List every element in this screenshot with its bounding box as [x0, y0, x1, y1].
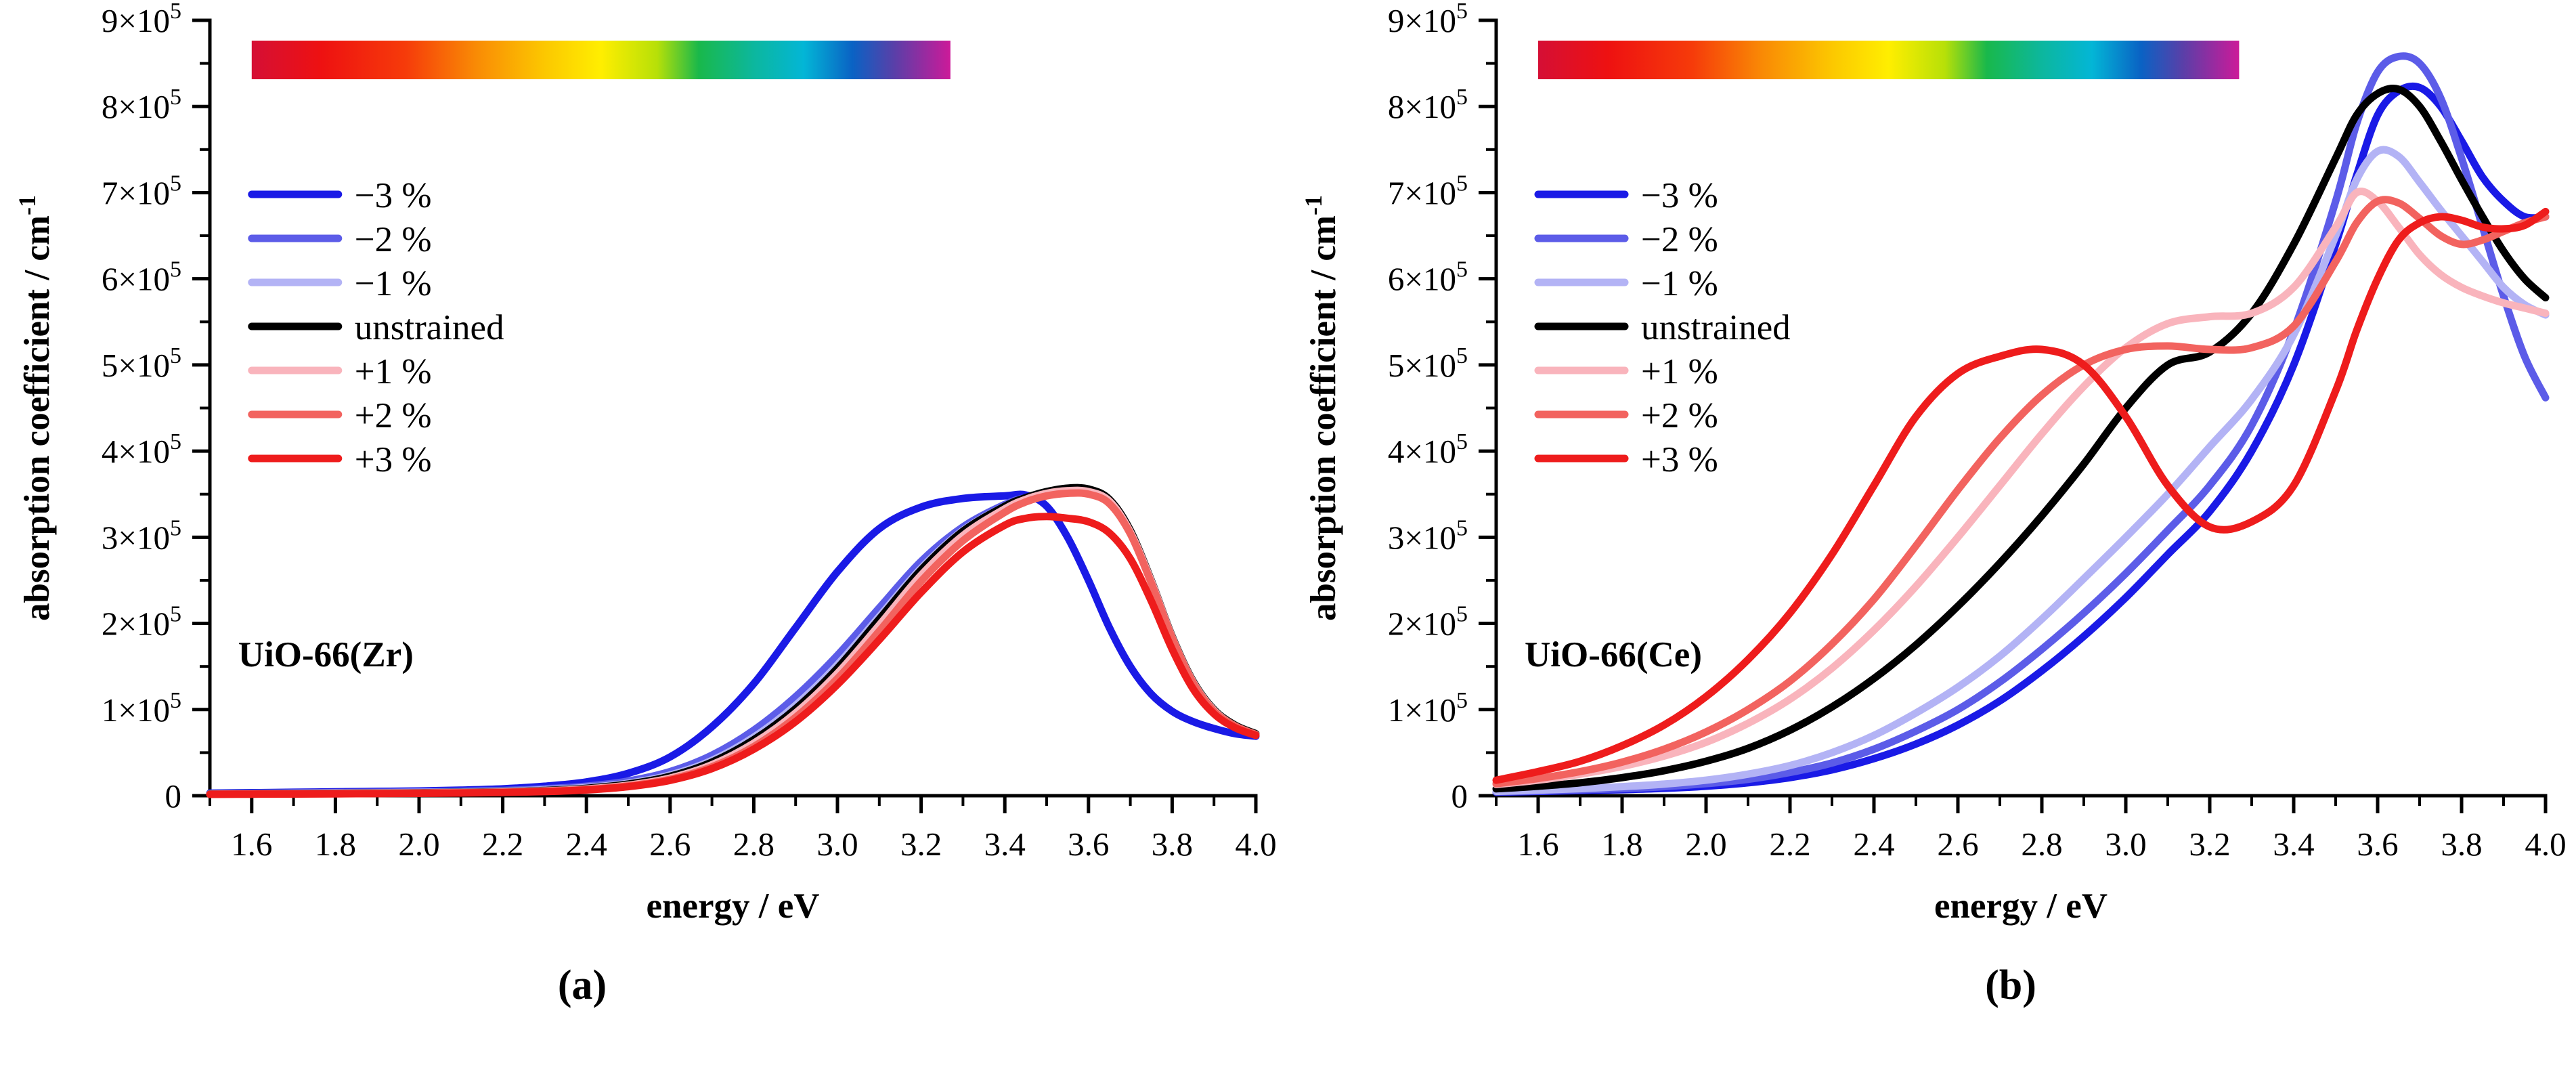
x-tick-label: 1.6 [1517, 826, 1558, 863]
legend-label-p3: +3 % [355, 440, 432, 479]
x-tick-label: 1.8 [315, 826, 356, 863]
panel-annotation: UiO-66(Zr) [238, 635, 414, 674]
x-tick-label: 2.0 [1685, 826, 1726, 863]
y-tick-exponent: 5 [1456, 688, 1468, 713]
caption-row: (a) (b) [0, 962, 2576, 1072]
y-tick-exponent: 5 [170, 515, 181, 540]
y-tick-label: 9×105 [1388, 0, 1468, 39]
y-tick-label: 5×105 [1388, 343, 1468, 384]
x-tick-label: 4.0 [1235, 826, 1276, 863]
chart-a-svg: 1.61.82.02.22.42.62.83.03.23.43.63.84.00… [0, 0, 1286, 975]
legend-entry-m2[interactable]: −2 % [252, 220, 432, 259]
x-tick-label: 3.4 [984, 826, 1026, 863]
chart-b-svg: 1.61.82.02.22.42.62.83.03.23.43.63.84.00… [1286, 0, 2576, 975]
y-tick-exponent: 5 [1456, 343, 1468, 368]
y-tick-exponent: 5 [170, 257, 181, 282]
y-tick-label: 8×105 [102, 85, 181, 125]
y-tick-label: 8×105 [1388, 85, 1468, 125]
legend-label-unstrained: unstrained [1641, 308, 1791, 347]
y-tick-label: 3×105 [1388, 515, 1468, 556]
y-tick-exponent: 5 [170, 85, 181, 110]
panel-b-uio66ce: 1.61.82.02.22.42.62.83.03.23.43.63.84.00… [1286, 0, 2576, 975]
panel-annotation: UiO-66(Ce) [1525, 635, 1702, 674]
legend-label-p3: +3 % [1641, 440, 1718, 479]
spectrum-bar [1538, 41, 2239, 79]
y-axis-title: absorption coefficient / cm-1 [1300, 195, 1343, 621]
x-axis-title: energy / eV [646, 886, 819, 926]
legend-label-p1: +1 % [1641, 352, 1718, 391]
panel-a-uio66zr: 1.61.82.02.22.42.62.83.03.23.43.63.84.00… [0, 0, 1286, 975]
legend-entry-m3[interactable]: −3 % [1538, 176, 1718, 215]
y-tick-exponent: 5 [1456, 602, 1468, 627]
legend-label-m2: −2 % [1641, 220, 1718, 259]
y-tick-label: 0 [165, 777, 182, 815]
legend-label-m3: −3 % [1641, 176, 1718, 215]
x-tick-label: 2.8 [2021, 826, 2062, 863]
y-tick-label: 6×105 [1388, 257, 1468, 298]
y-tick-label: 7×105 [102, 171, 181, 211]
y-tick-exponent: 5 [1456, 85, 1468, 110]
x-tick-label: 3.0 [816, 826, 858, 863]
y-tick-exponent: 5 [170, 602, 181, 627]
y-tick-exponent: 5 [1456, 0, 1468, 24]
x-tick-label: 3.4 [2273, 826, 2314, 863]
y-tick-label: 7×105 [1388, 171, 1468, 211]
x-tick-label: 2.8 [733, 826, 774, 863]
caption-panel-a: (a) [447, 962, 718, 1010]
x-tick-label: 1.6 [231, 826, 272, 863]
legend-entry-p2[interactable]: +2 % [252, 396, 432, 435]
legend-label-m2: −2 % [355, 220, 432, 259]
legend-entry-p1[interactable]: +1 % [252, 352, 432, 391]
y-tick-label: 4×105 [102, 429, 181, 470]
y-tick-label: 2×105 [1388, 602, 1468, 643]
legend-label-p2: +2 % [1641, 396, 1718, 435]
legend-label-p2: +2 % [355, 396, 432, 435]
y-axis-title-exponent: -1 [14, 195, 41, 215]
x-tick-label: 3.6 [1068, 826, 1109, 863]
legend-entry-m1[interactable]: −1 % [252, 264, 432, 303]
x-axis-title: energy / eV [1934, 886, 2108, 926]
x-tick-label: 1.8 [1601, 826, 1642, 863]
y-tick-label: 1×105 [1388, 688, 1468, 729]
figure-root: 1.61.82.02.22.42.62.83.03.23.43.63.84.00… [0, 0, 2576, 1072]
x-tick-label: 2.6 [649, 826, 691, 863]
legend-entry-p3[interactable]: +3 % [1538, 440, 1718, 479]
x-tick-label: 2.2 [482, 826, 523, 863]
legend-entry-p2[interactable]: +2 % [1538, 396, 1718, 435]
x-tick-label: 2.2 [1769, 826, 1810, 863]
legend-label-p1: +1 % [355, 352, 432, 391]
y-axis-title-exponent: -1 [1300, 195, 1327, 215]
legend-label-m1: −1 % [1641, 264, 1718, 303]
y-tick-exponent: 5 [1456, 429, 1468, 454]
y-tick-label: 0 [1451, 777, 1468, 815]
y-tick-label: 9×105 [102, 0, 181, 39]
x-tick-label: 4.0 [2525, 826, 2566, 863]
x-tick-label: 2.0 [398, 826, 439, 863]
legend-entry-p1[interactable]: +1 % [1538, 352, 1718, 391]
legend-entry-m2[interactable]: −2 % [1538, 220, 1718, 259]
legend-entry-m1[interactable]: −1 % [1538, 264, 1718, 303]
y-tick-exponent: 5 [170, 0, 181, 24]
legend-label-unstrained: unstrained [355, 308, 504, 347]
y-tick-label: 5×105 [102, 343, 181, 384]
legend-entry-p3[interactable]: +3 % [252, 440, 432, 479]
y-tick-exponent: 5 [1456, 257, 1468, 282]
x-tick-label: 3.0 [2105, 826, 2146, 863]
x-tick-label: 3.6 [2357, 826, 2398, 863]
y-tick-label: 4×105 [1388, 429, 1468, 470]
legend-label-m1: −1 % [355, 264, 432, 303]
legend-label-m3: −3 % [355, 176, 432, 215]
spectrum-bar [252, 41, 951, 79]
y-tick-exponent: 5 [170, 429, 181, 454]
caption-panel-b: (b) [1875, 962, 2146, 1010]
x-tick-label: 3.8 [2441, 826, 2482, 863]
legend-entry-unstrained[interactable]: unstrained [252, 308, 504, 347]
y-axis-title: absorption coefficient / cm-1 [14, 195, 57, 621]
x-tick-label: 2.6 [1937, 826, 1978, 863]
x-tick-label: 3.2 [900, 826, 942, 863]
y-tick-exponent: 5 [170, 688, 181, 713]
x-tick-label: 3.2 [2189, 826, 2230, 863]
y-tick-exponent: 5 [1456, 171, 1468, 196]
x-tick-label: 3.8 [1152, 826, 1193, 863]
y-tick-exponent: 5 [170, 343, 181, 368]
y-tick-label: 6×105 [102, 257, 181, 298]
legend-entry-unstrained[interactable]: unstrained [1538, 308, 1791, 347]
x-tick-label: 2.4 [566, 826, 607, 863]
y-tick-label: 3×105 [102, 515, 181, 556]
y-tick-exponent: 5 [1456, 515, 1468, 540]
x-tick-label: 2.4 [1853, 826, 1894, 863]
legend-entry-m3[interactable]: −3 % [252, 176, 432, 215]
y-tick-label: 2×105 [102, 602, 181, 643]
y-tick-exponent: 5 [170, 171, 181, 196]
y-tick-label: 1×105 [102, 688, 181, 729]
